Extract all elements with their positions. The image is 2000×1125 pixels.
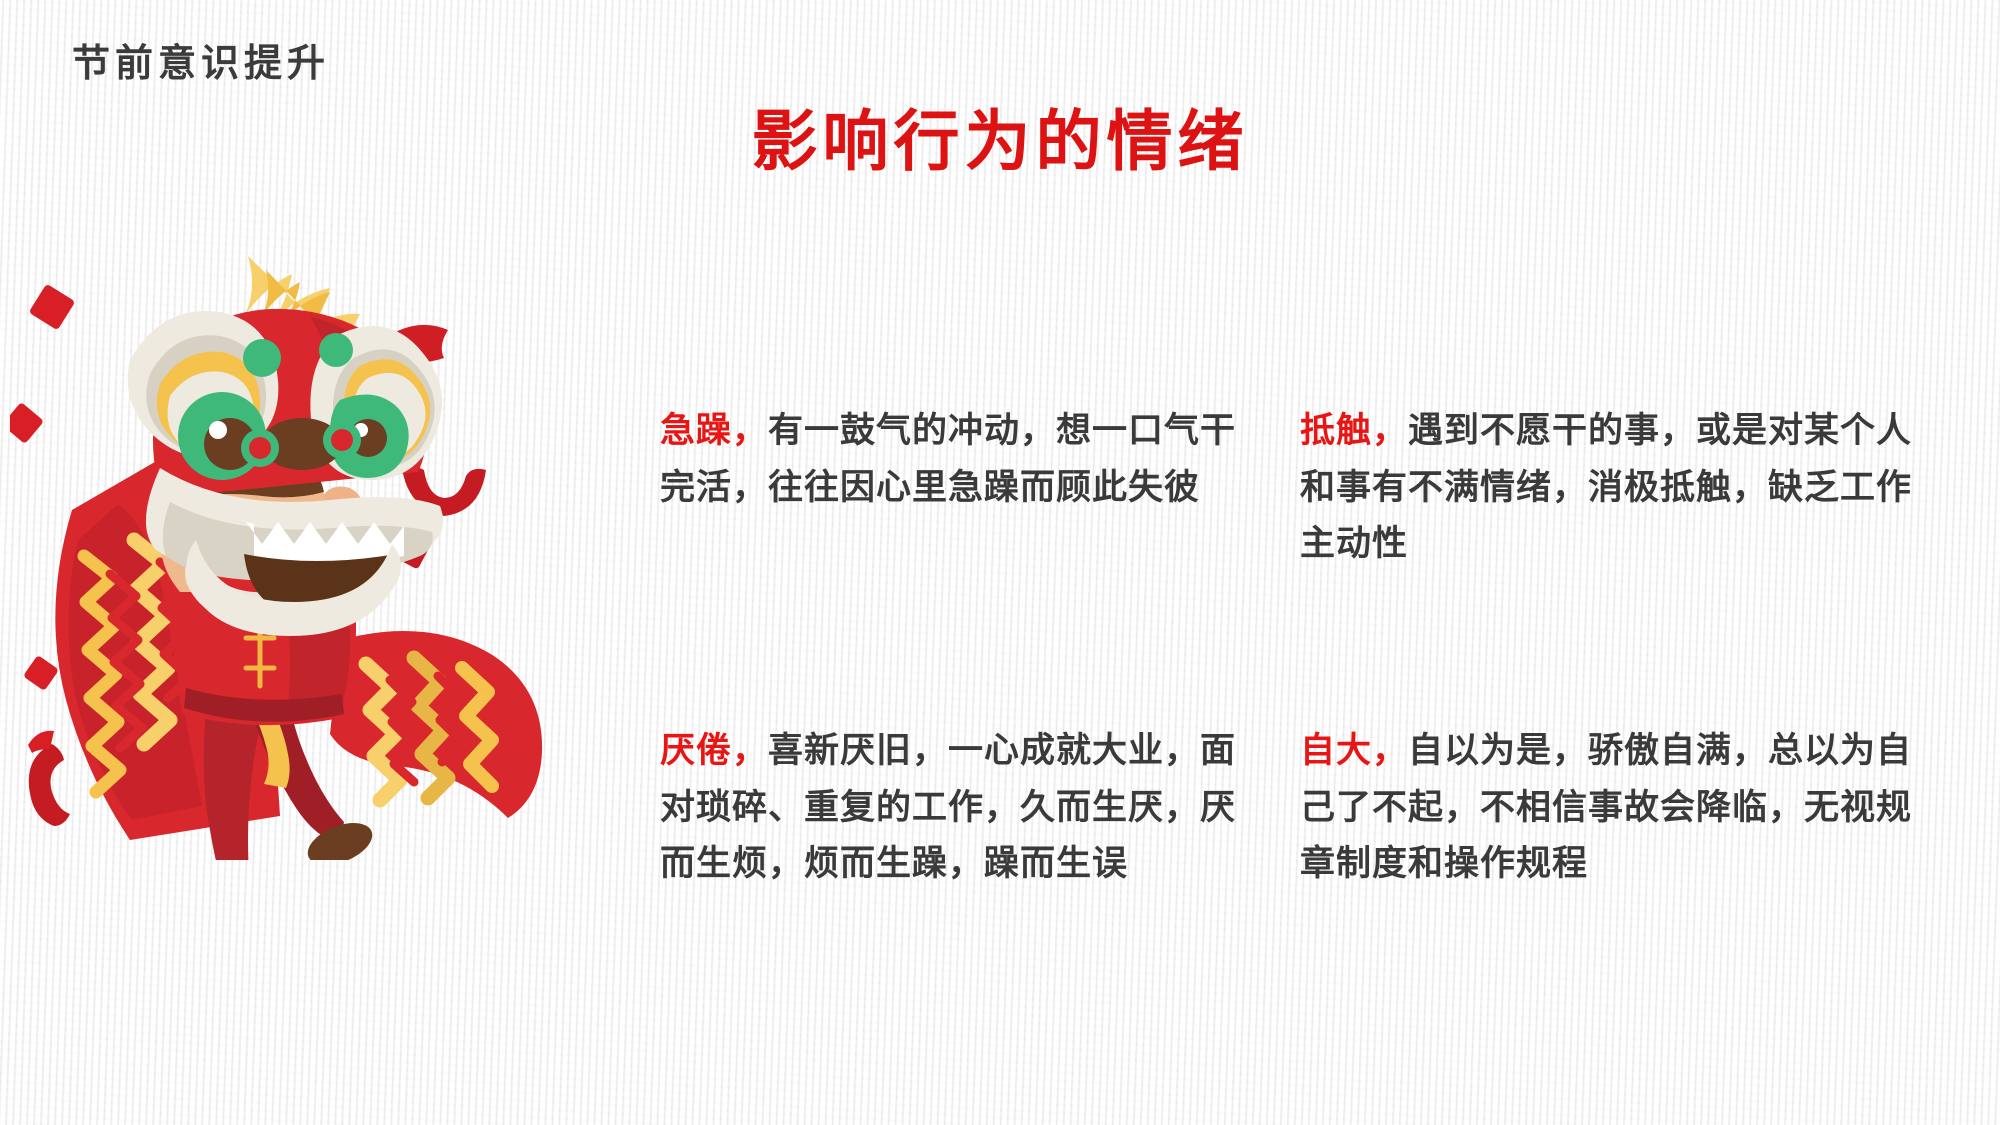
emotion-block-arrogance: 自大，自以为是，骄傲自满，总以为自己了不起，不相信事故会降临，无视规章制度和操作… <box>1300 723 1930 893</box>
emotion-keyword-impatience: 急躁， <box>660 411 768 450</box>
emotion-keyword-arrogance: 自大， <box>1300 731 1408 770</box>
emotion-block-impatience: 急躁，有一鼓气的冲动，想一口气干完活，往往因心里急躁而顾此失彼 <box>660 403 1260 653</box>
emotion-keyword-resistance: 抵触， <box>1300 411 1408 450</box>
emotion-block-weariness: 厌倦，喜新厌旧，一心成就大业，面对琐碎、重复的工作，久而生厌，厌而生烦，烦而生躁… <box>660 723 1260 893</box>
page-title: 影响行为的情绪 <box>0 88 2000 184</box>
slide-canvas: 节前意识提升 影响行为的情绪 <box>0 0 2000 1125</box>
lion-body-right <box>330 631 542 818</box>
page-eyebrow: 节前意识提升 <box>72 32 330 87</box>
lion-dance-illustration <box>10 240 550 860</box>
emotion-blocks-grid: 急躁，有一鼓气的冲动，想一口气干完活，往往因心里急躁而顾此失彼 抵触，遇到不愿干… <box>660 368 1950 928</box>
emotion-keyword-weariness: 厌倦， <box>660 731 768 770</box>
emotion-block-resistance: 抵触，遇到不愿干的事，或是对某个人和事有不满情绪，消极抵触，缺乏工作主动性 <box>1300 403 1930 653</box>
